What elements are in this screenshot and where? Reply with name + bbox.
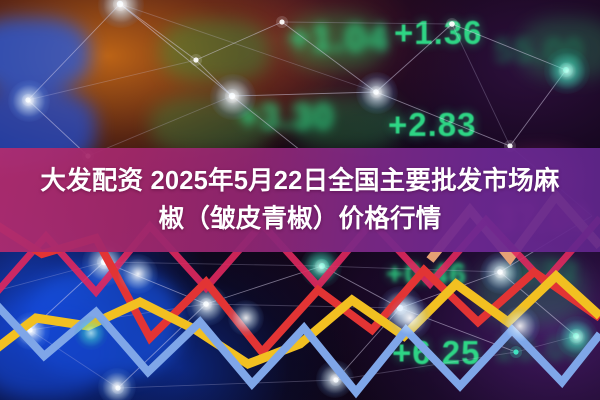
thumbnail-canvas: +1.04 +1.36 55.00 +3.30 +2.83 37.00 +0.4… [0, 0, 600, 400]
title-band: 大发配资 2025年5月22日全国主要批发市场麻 椒（皱皮青椒）价格行情 [0, 148, 600, 252]
title-line-1: 大发配资 2025年5月22日全国主要批发市场麻 [40, 162, 559, 200]
title-line-2: 椒（皱皮青椒）价格行情 [159, 200, 442, 238]
